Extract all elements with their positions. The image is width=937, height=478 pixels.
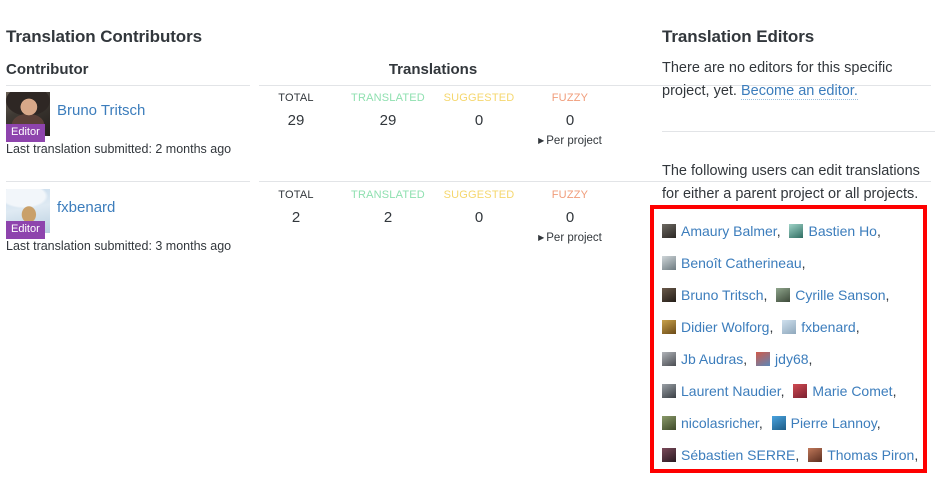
stat-label-total: TOTAL [250,189,342,201]
editor-name-link[interactable]: Sébastien SERRE [681,447,795,463]
following-users-text: The following users can edit translation… [662,160,937,206]
stat-suggested: SUGGESTED 0 [433,92,525,129]
stat-value-total: 2 [250,209,342,226]
triangle-right-icon: ▶ [538,136,544,145]
avatar [662,416,676,430]
avatar [662,224,676,238]
stat-total: TOTAL 29 [250,92,342,129]
list-separator: , [886,287,890,303]
list-separator: , [877,223,881,239]
stat-value-total: 29 [250,112,342,129]
editor-name-link[interactable]: Bruno Tritsch [681,287,763,303]
list-separator: , [777,223,781,239]
avatar [782,320,796,334]
avatar [772,416,786,430]
avatar [662,352,676,366]
editor-name-link[interactable]: Pierre Lannoy [791,415,877,431]
editors-title: Translation Editors [662,27,814,47]
list-separator: , [763,287,767,303]
avatar [662,256,676,270]
list-separator: , [802,255,806,271]
stat-translated: TRANSLATED 29 [342,92,434,129]
stat-fuzzy: FUZZY 0 [524,92,616,129]
per-project-toggle[interactable]: ▶Per project [524,232,616,244]
avatar [756,352,770,366]
stat-value-fuzzy: 0 [524,209,616,226]
stat-suggested: SUGGESTED 0 [433,189,525,226]
stat-value-translated: 29 [342,112,434,129]
stat-label-total: TOTAL [250,92,342,104]
list-separator: , [809,351,813,367]
last-translation-text: Last translation submitted: 2 months ago [6,142,231,156]
list-separator: , [877,415,881,431]
stat-label-translated: TRANSLATED [342,189,434,201]
list-item: Pierre Lannoy, [772,407,881,439]
editor-name-link[interactable]: Didier Wolforg [681,319,769,335]
stat-label-translated: TRANSLATED [342,92,434,104]
row-divider-left [6,181,250,182]
list-item: Bruno Tritsch, [662,279,767,311]
list-item: Cyrille Sanson, [776,279,889,311]
list-item: Jb Audras, [662,343,747,375]
editors-list: Amaury Balmer, Bastien Ho, Benoît Cather… [662,215,924,478]
list-separator: , [743,351,747,367]
stat-total: TOTAL 2 [250,189,342,226]
list-item: jdy68, [756,343,812,375]
stat-value-suggested: 0 [433,112,525,129]
contributor-name-link[interactable]: fxbenard [57,199,115,216]
stat-value-fuzzy: 0 [524,112,616,129]
stat-translated: TRANSLATED 2 [342,189,434,226]
stat-value-translated: 2 [342,209,434,226]
avatar [789,224,803,238]
avatar [662,384,676,398]
stat-fuzzy: FUZZY 0 [524,189,616,226]
list-item: Laurent Naudier, [662,375,785,407]
become-an-editor-link[interactable]: Become an editor. [741,83,858,100]
stat-label-fuzzy: FUZZY [524,92,616,104]
triangle-right-icon: ▶ [538,233,544,242]
page-title: Translation Contributors [6,27,202,47]
editor-name-link[interactable]: Bastien Ho [808,223,876,239]
avatar [662,448,676,462]
list-separator: , [759,415,763,431]
editor-name-link[interactable]: Cyrille Sanson [795,287,885,303]
list-item: Marie Comet, [793,375,896,407]
per-project-toggle[interactable]: ▶Per project [524,135,616,147]
list-separator: , [781,383,785,399]
stat-label-suggested: SUGGESTED [433,92,525,104]
editor-name-link[interactable]: nicolasricher [681,415,759,431]
status-badge: Editor [6,221,45,239]
list-item: Bastien Ho, [789,215,880,247]
page-root: Translation Contributors Contributor Tra… [0,0,937,478]
stat-value-suggested: 0 [433,209,525,226]
column-header-contributor: Contributor [6,61,88,78]
editor-name-link[interactable]: Benoît Catherineau [681,255,802,271]
editor-name-link[interactable]: Thomas Piron [827,447,914,463]
editor-name-link[interactable]: jdy68 [775,351,808,367]
list-separator: , [856,319,860,335]
translation-contributors-panel: Translation Contributors Contributor Tra… [0,0,640,478]
translation-editors-panel: Translation Editors There are no editors… [662,0,937,478]
list-item: Amaury Balmer, [662,215,781,247]
editor-name-link[interactable]: Laurent Naudier [681,383,781,399]
list-item: Thomas Piron, [808,439,918,471]
list-separator: , [769,319,773,335]
editor-name-link[interactable]: Marie Comet [812,383,892,399]
avatar [808,448,822,462]
list-separator: , [914,447,918,463]
list-item: nicolasricher, [662,407,763,439]
per-project-label: Per project [546,232,602,244]
avatar [793,384,807,398]
list-item: Benoît Catherineau, [662,247,806,279]
header-divider-left [6,85,250,86]
avatar [662,288,676,302]
editors-highlight-box: Amaury Balmer, Bastien Ho, Benoît Cather… [650,205,927,473]
list-item: Didier Wolforg, [662,311,773,343]
column-header-translations: Translations [250,61,616,78]
list-separator: , [893,383,897,399]
stat-label-suggested: SUGGESTED [433,189,525,201]
stat-label-fuzzy: FUZZY [524,189,616,201]
avatar [662,320,676,334]
list-item: fxbenard, [782,311,859,343]
editor-name-link[interactable]: fxbenard [801,319,855,335]
list-item: Xavier Borderie [662,471,778,478]
divider [662,131,935,132]
list-item: Sébastien SERRE, [662,439,799,471]
contributor-name-link[interactable]: Bruno Tritsch [57,102,145,119]
no-editors-message: There are no editors for this specific p… [662,57,924,103]
status-badge: Editor [6,124,45,142]
per-project-label: Per project [546,135,602,147]
editor-name-link[interactable]: Amaury Balmer [681,223,777,239]
avatar [776,288,790,302]
editor-name-link[interactable]: Jb Audras [681,351,743,367]
last-translation-text: Last translation submitted: 3 months ago [6,239,231,253]
list-separator: , [795,447,799,463]
